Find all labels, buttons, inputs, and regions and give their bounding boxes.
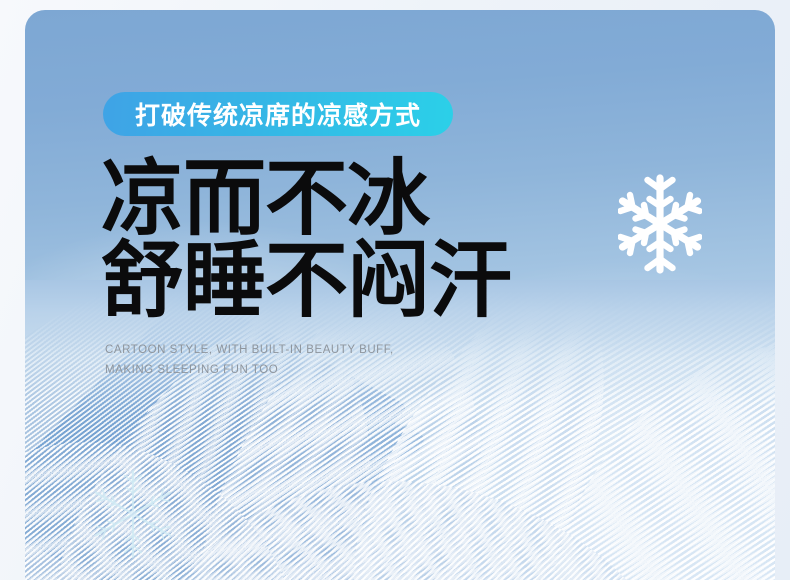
headline-line-1: 凉而不冰 xyxy=(101,158,571,240)
hero-banner-screenshot: 打破传统凉席的凉感方式 凉而不冰 舒睡不闷汗 CARTOON STYLE, WI… xyxy=(0,0,790,580)
feature-badge: 打破传统凉席的凉感方式 xyxy=(103,92,453,136)
feature-badge-label: 打破传统凉席的凉感方式 xyxy=(135,96,421,132)
hero-card: 打破传统凉席的凉感方式 凉而不冰 舒睡不闷汗 CARTOON STYLE, WI… xyxy=(25,10,775,580)
headline-line-2: 舒睡不闷汗 xyxy=(101,240,571,322)
page-title: 凉而不冰 舒睡不闷汗 xyxy=(101,158,571,322)
ice-crystal-snowflake-icon xyxy=(81,462,185,566)
subtitle: CARTOON STYLE, WITH BUILT-IN BEAUTY BUFF… xyxy=(105,340,525,380)
snowflake-icon xyxy=(618,170,702,278)
subtitle-line-1: CARTOON STYLE, WITH BUILT-IN BEAUTY BUFF… xyxy=(105,340,525,360)
subtitle-line-2: MAKING SLEEPING FUN TOO xyxy=(105,360,525,380)
